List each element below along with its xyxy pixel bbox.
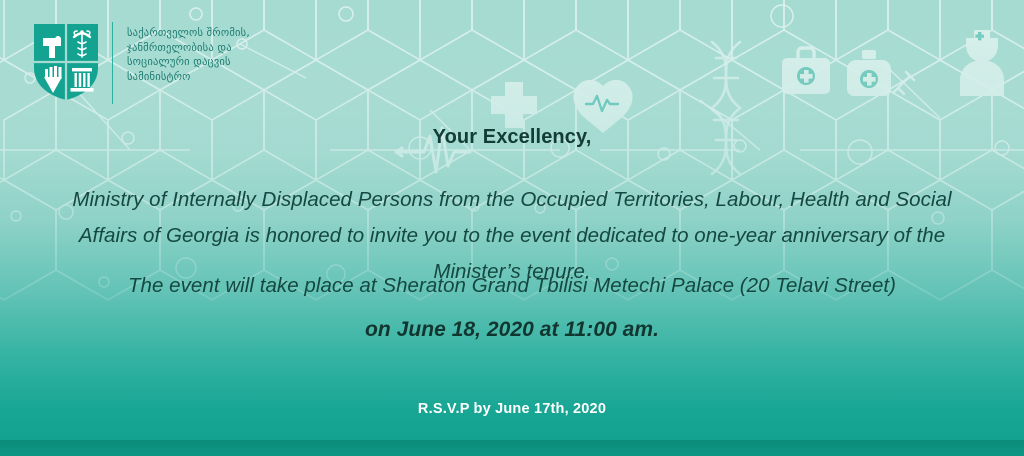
medicine-bottle-icon [847,50,914,96]
invitation-banner: საქართველოს შრომის, ჯანმრთელობისა და სოც… [0,0,1024,456]
invitation-datetime: on June 18, 2020 at 11:00 am. [0,312,1024,348]
ministry-shield-icon [32,22,100,102]
footer-band [0,440,1024,456]
logo-divider [112,22,113,104]
dna-helix-icon [712,42,740,174]
salutation: Your Excellency, [0,126,1024,149]
first-aid-kit-icon [782,48,830,94]
ministry-logo: საქართველოს შრომის, ჯანმრთელობისა და სოც… [32,22,250,104]
rsvp-notice: R.S.V.P by June 17th, 2020 [0,401,1024,417]
medical-cross-icon [491,82,537,128]
invitation-paragraph-2: The event will take place at Sheraton Gr… [0,268,1024,304]
doctor-icon [960,30,1004,96]
ministry-name-georgian: საქართველოს შრომის, ჯანმრთელობისა და სოც… [127,26,250,84]
